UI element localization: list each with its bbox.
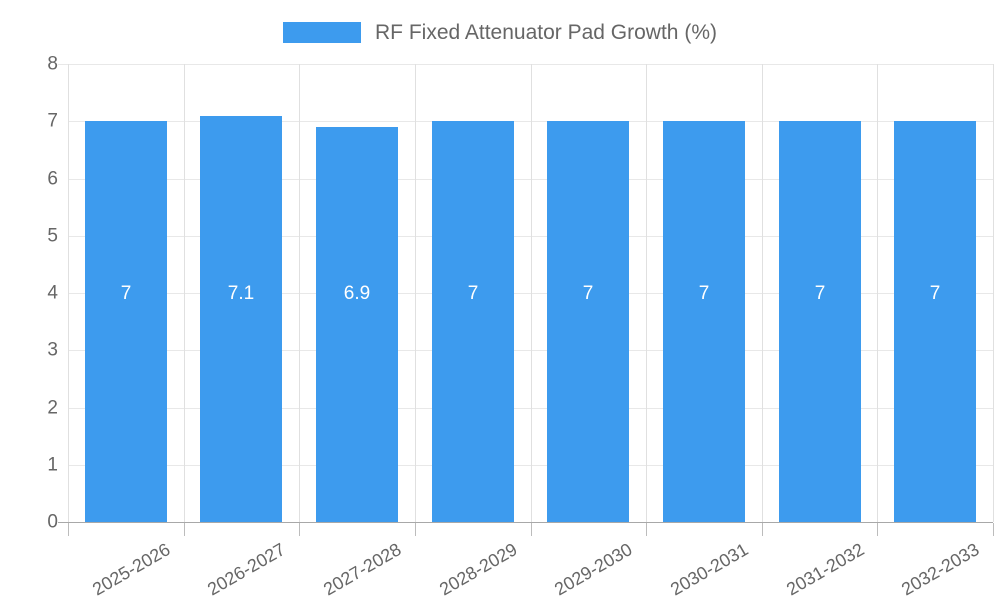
- y-axis-tick-labels: 876543210: [0, 64, 58, 522]
- x-axis-tick-mark: [68, 523, 69, 536]
- y-axis-tick-label: 2: [6, 398, 58, 417]
- x-axis-tick-mark: [646, 523, 647, 536]
- y-axis-tick-label: 8: [6, 55, 58, 74]
- x-axis-tick-label: 2025-2026: [89, 540, 173, 599]
- gridline-vertical: [646, 64, 647, 522]
- bar-value-label: 7: [779, 284, 861, 303]
- x-axis-tick-label: 2026-2027: [205, 540, 289, 599]
- legend-color-swatch[interactable]: [283, 22, 361, 43]
- y-axis-tick-label: 5: [6, 226, 58, 245]
- plot-area: 77.16.977777: [68, 64, 993, 522]
- x-axis-tick-mark: [993, 523, 994, 536]
- x-axis-tick-label: 2030-2031: [667, 540, 751, 599]
- y-axis-tick-label: 0: [6, 513, 58, 532]
- bar[interactable]: 7: [663, 121, 745, 522]
- bar-chart: RF Fixed Attenuator Pad Growth (%) 87654…: [0, 0, 1000, 600]
- gridline-vertical: [184, 64, 185, 522]
- x-axis-tick-mark: [415, 523, 416, 536]
- x-axis-tick-label: 2028-2029: [436, 540, 520, 599]
- bar-value-label: 7: [547, 284, 629, 303]
- bar-value-label: 7: [663, 284, 745, 303]
- bar[interactable]: 7: [85, 121, 167, 522]
- x-axis-tick-mark: [531, 523, 532, 536]
- x-axis-tick-label: 2032-2033: [899, 540, 983, 599]
- gridline-vertical: [877, 64, 878, 522]
- bar-value-label: 7.1: [200, 284, 282, 303]
- gridline-vertical: [299, 64, 300, 522]
- bar[interactable]: 7: [779, 121, 861, 522]
- x-axis-tick-mark: [299, 523, 300, 536]
- x-axis-tick-mark: [877, 523, 878, 536]
- x-axis-tick-mark: [762, 523, 763, 536]
- bar-value-label: 6.9: [316, 284, 398, 303]
- bar[interactable]: 7: [894, 121, 976, 522]
- x-axis-line: [58, 522, 993, 523]
- bar-value-label: 7: [894, 284, 976, 303]
- bar-value-label: 7: [432, 284, 514, 303]
- bar[interactable]: 6.9: [316, 127, 398, 522]
- y-axis-tick-label: 1: [6, 455, 58, 474]
- x-axis-tick-label: 2031-2032: [783, 540, 867, 599]
- bar-value-label: 7: [85, 284, 167, 303]
- x-axis-tick-label: 2027-2028: [321, 540, 405, 599]
- gridline-vertical: [531, 64, 532, 522]
- bar[interactable]: 7.1: [200, 116, 282, 522]
- x-axis-tick-mark: [184, 523, 185, 536]
- bar[interactable]: 7: [547, 121, 629, 522]
- y-axis-tick-label: 4: [6, 284, 58, 303]
- gridline-vertical: [762, 64, 763, 522]
- gridline-vertical: [993, 64, 994, 522]
- chart-legend: RF Fixed Attenuator Pad Growth (%): [0, 14, 1000, 50]
- y-axis-tick-label: 3: [6, 341, 58, 360]
- gridline-vertical: [68, 64, 69, 522]
- x-axis-tick-label: 2029-2030: [552, 540, 636, 599]
- y-axis-tick-label: 6: [6, 169, 58, 188]
- legend-label[interactable]: RF Fixed Attenuator Pad Growth (%): [375, 22, 717, 43]
- y-axis-tick-label: 7: [6, 112, 58, 131]
- gridline-horizontal: [58, 64, 993, 65]
- bar[interactable]: 7: [432, 121, 514, 522]
- gridline-vertical: [415, 64, 416, 522]
